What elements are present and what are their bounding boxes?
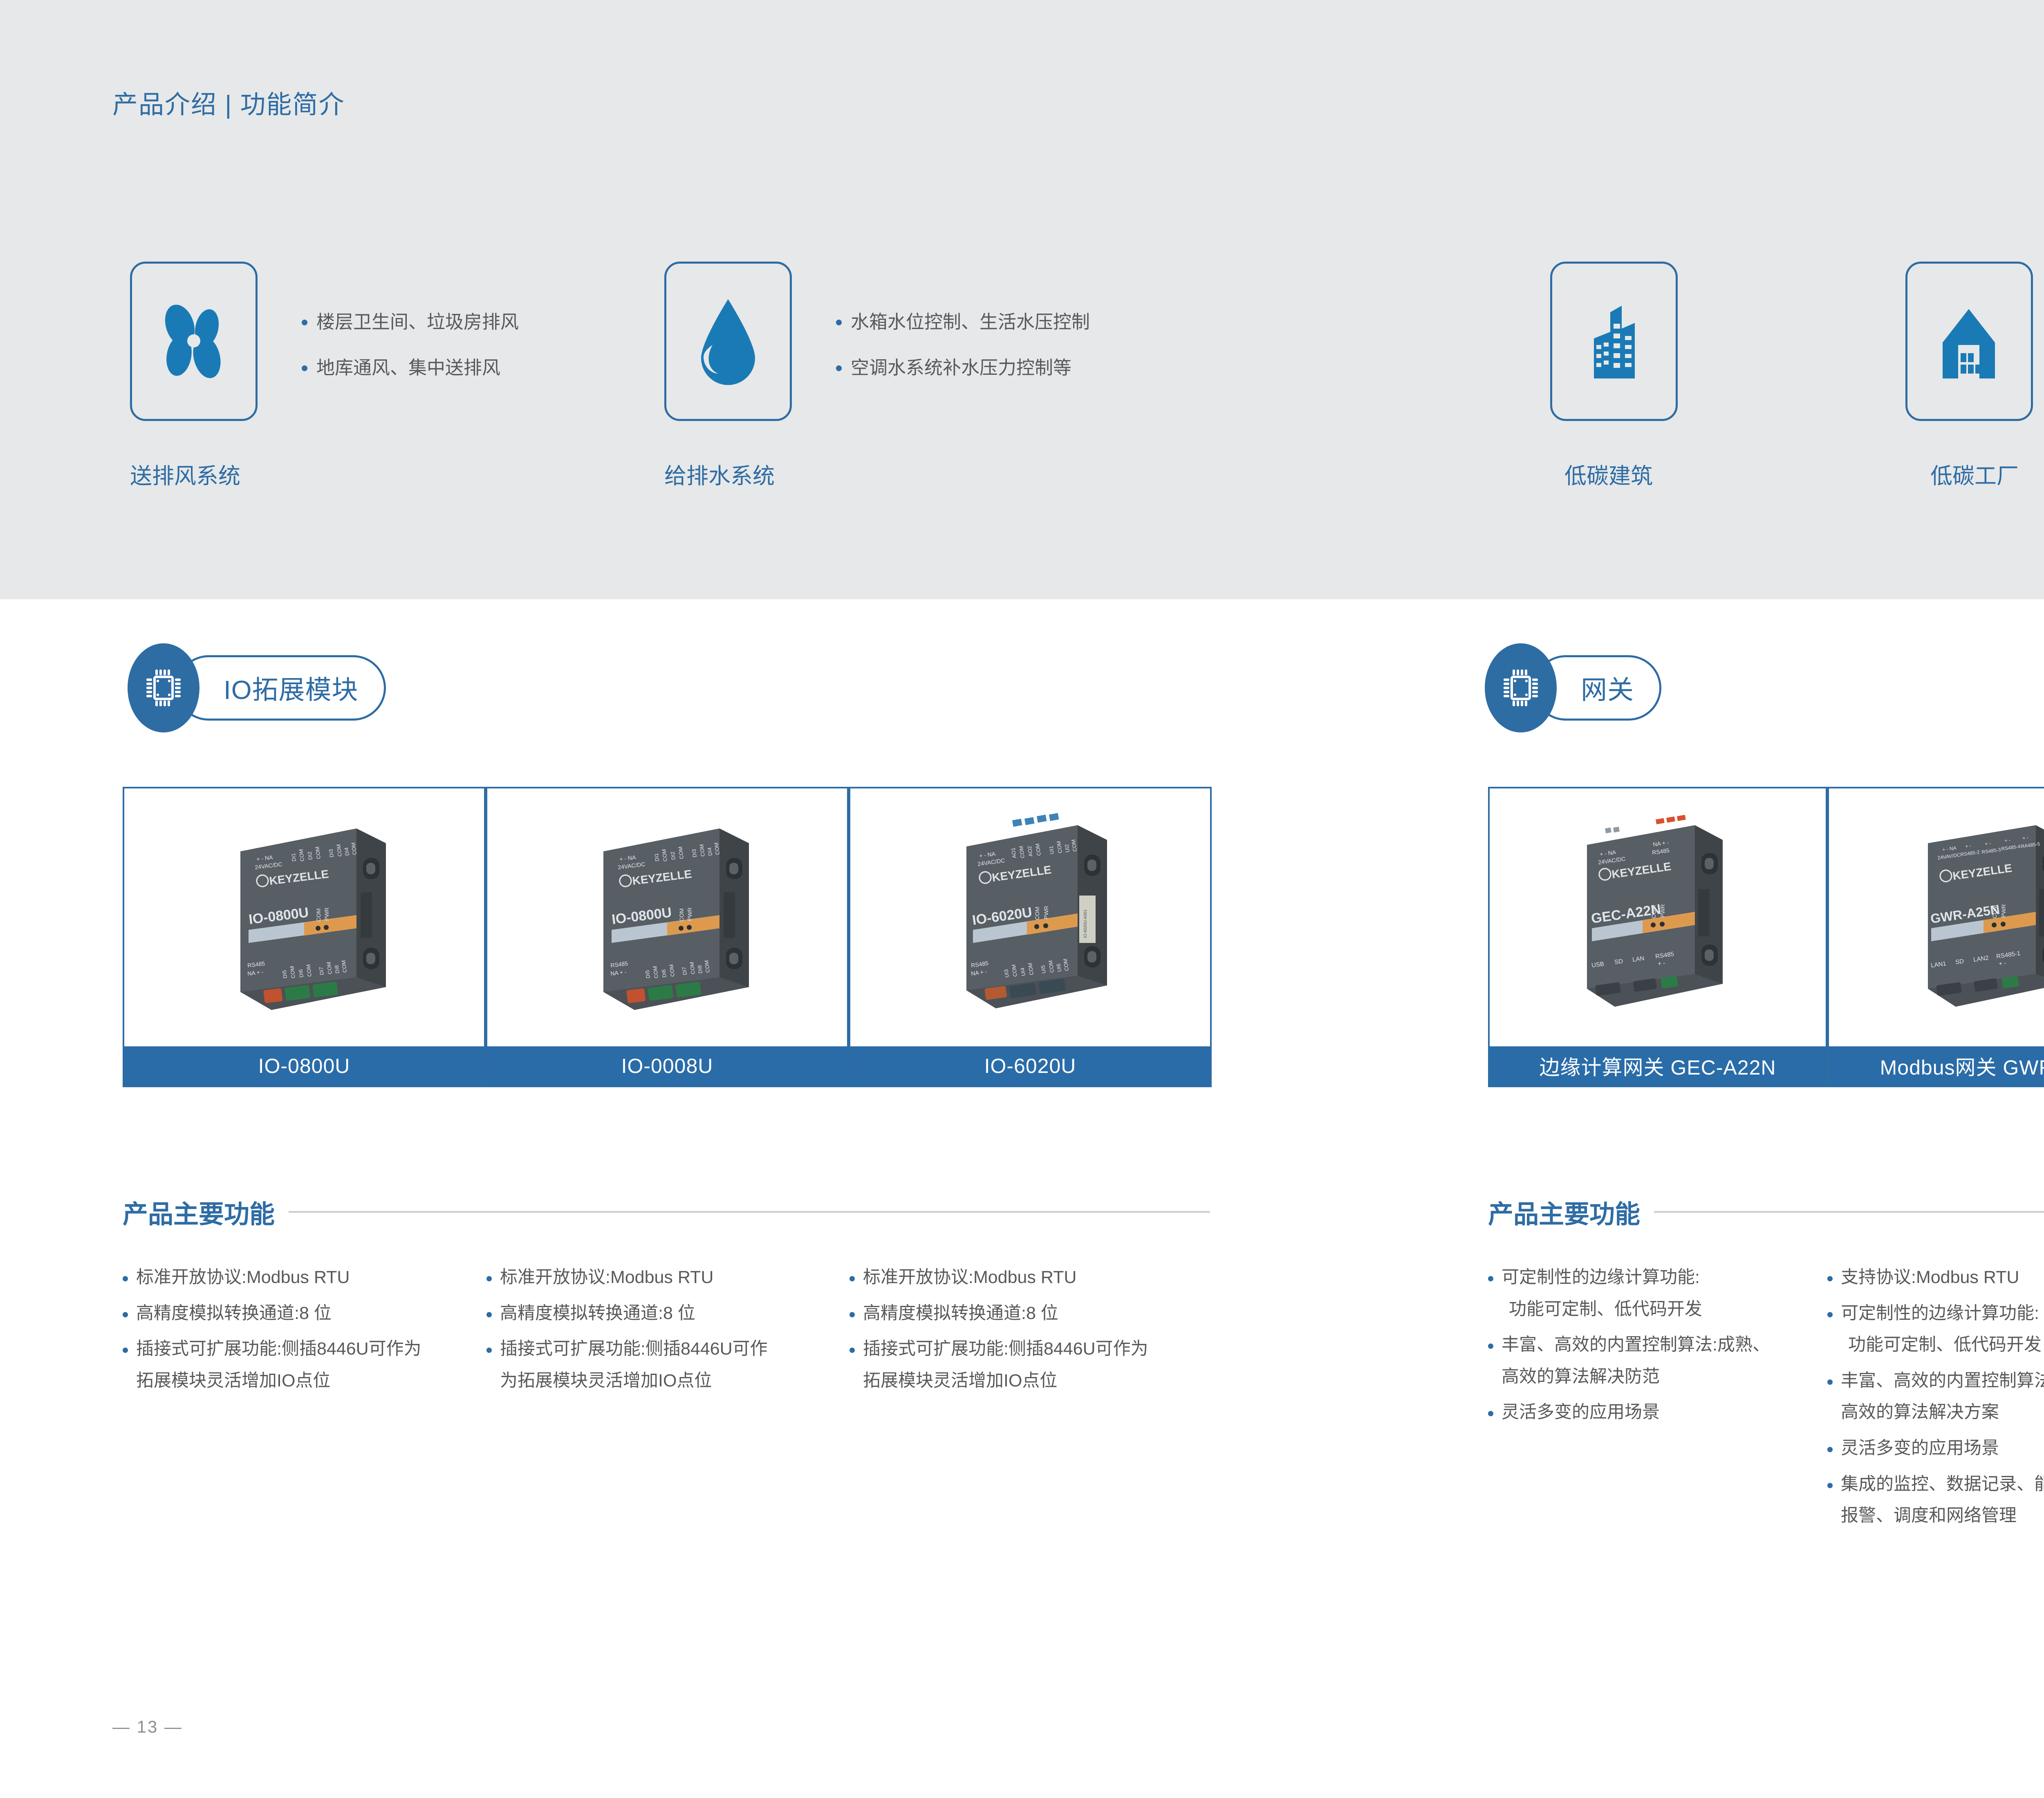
svg-text:PWR: PWR: [1659, 904, 1666, 918]
svg-text:DI2: DI2: [307, 851, 314, 860]
feature-item: 丰富、高效的内置控制算法:成熟、高效的算法解决防范: [1488, 1335, 1827, 1387]
svg-text:DI1: DI1: [653, 853, 660, 862]
bullet-dot-icon: [486, 1348, 492, 1353]
bullet-dot-icon: [123, 1348, 128, 1353]
svg-text:DI7: DI7: [318, 966, 325, 975]
feature-item: 插接式可扩展功能:侧插8446U可作为拓展模块灵活增加IO点位: [123, 1339, 482, 1391]
heading-rule: [289, 1211, 1210, 1213]
svg-text:UI1: UI1: [1048, 845, 1055, 854]
feature-item: 插接式可扩展功能:侧插8446U可作为拓展模块灵活增加IO点位: [849, 1339, 1209, 1391]
bullet-dot-icon: [836, 365, 842, 371]
svg-text:COM: COM: [1034, 907, 1040, 920]
svg-text:+ -: + -: [1998, 959, 2006, 967]
target-tile-factory: [1905, 262, 2033, 421]
product-image: GEC-A22N + - NA 24VAC/DC NA + - RS485 CO…: [1490, 788, 1826, 1046]
feature-item: 支持协议:Modbus RTU: [1827, 1267, 2044, 1288]
svg-text:DI4: DI4: [343, 847, 350, 856]
product-strip-label: IO-6020U: [850, 1046, 1210, 1086]
chip-icon: [128, 643, 199, 732]
svg-text:PWR: PWR: [2000, 904, 2007, 918]
target-label-building: 低碳建筑: [1564, 458, 1653, 490]
target-label-factory: 低碳工厂: [1930, 458, 2019, 490]
bullet-dot-icon: [486, 1312, 492, 1317]
section-badge-io: IO拓展模块: [128, 641, 386, 735]
bullet-dot-icon: [1827, 1483, 1833, 1488]
svg-text:+ -: + -: [1657, 959, 1665, 967]
office-building-icon: [1576, 299, 1652, 383]
bullet-dot-icon: [1488, 1343, 1493, 1349]
product-image: IO-0800U + - NA 24VAC/DC DI1 COM DI2 COM…: [124, 788, 484, 1046]
svg-text:DI3: DI3: [328, 849, 335, 858]
svg-text:+ -: + -: [2022, 835, 2028, 841]
scenario-label-water: 给排水系统: [664, 458, 775, 490]
bullet-dot-icon: [1488, 1411, 1493, 1416]
svg-text:+ -: + -: [1965, 843, 1971, 849]
bullet-dot-icon: [486, 1276, 492, 1281]
svg-text:DI4: DI4: [706, 847, 713, 856]
list-item: 空调水系统补水压力控制等: [836, 356, 1090, 379]
feature-column: 标准开放协议:Modbus RTU 高精度模拟转换通道:8 位 插接式可扩展功能…: [486, 1267, 846, 1391]
product-strip-label: 边缘计算网关 GEC-A22N: [1490, 1046, 1826, 1086]
bullet-dot-icon: [302, 365, 307, 371]
heading-rule: [1654, 1211, 2044, 1213]
feature-item: 丰富、高效的内置控制算法:成熟、高效的算法解决方案: [1827, 1370, 2044, 1423]
product-card[interactable]: GWR-A25N + - NA + - + - + - + - 2AVAV/DC…: [1827, 787, 2044, 1087]
features-title-text: 产品主要功能: [1488, 1193, 1640, 1230]
svg-text:DI5: DI5: [644, 970, 651, 978]
bullet-dot-icon: [123, 1312, 128, 1317]
water-drop-icon: [691, 294, 765, 388]
bullet-dot-icon: [1827, 1447, 1833, 1452]
svg-text:PWR: PWR: [323, 907, 330, 921]
feature-item: 高精度模拟转换通道:8 位: [486, 1303, 846, 1324]
product-image: IO-6020U-A001 IO-6020U + - NA 24VAC/DC A…: [850, 788, 1210, 1046]
product-image: IO-0800U + - NA 24VAC/DC DI1 COM DI2 COM…: [487, 788, 847, 1046]
svg-text:DI3: DI3: [691, 849, 698, 858]
product-card[interactable]: GEC-A22N + - NA 24VAC/DC NA + - RS485 CO…: [1488, 787, 1827, 1087]
svg-text:COM: COM: [1650, 905, 1657, 918]
features-title-text: 产品主要功能: [123, 1193, 275, 1230]
feature-column: 可定制性的边缘计算功能:功能可定制、低代码开发 丰富、高效的内置控制算法:成熟、…: [1488, 1267, 1827, 1423]
bullet-dot-icon: [1488, 1276, 1493, 1281]
svg-text:UI5: UI5: [1040, 965, 1047, 974]
svg-text:PWR: PWR: [1043, 906, 1049, 919]
product-strip-label: IO-0008U: [487, 1046, 847, 1086]
svg-text:DI8: DI8: [334, 965, 341, 974]
svg-text:DI1: DI1: [290, 853, 297, 862]
bullet-dot-icon: [1827, 1276, 1833, 1281]
page-header-left: 产品介绍 | 功能简介: [112, 84, 345, 121]
feature-item: 标准开放协议:Modbus RTU: [486, 1267, 846, 1288]
bullet-dot-icon: [302, 320, 307, 325]
svg-text:DI6: DI6: [661, 969, 668, 978]
bullet-dot-icon: [849, 1276, 855, 1281]
svg-text:COM: COM: [1991, 905, 1998, 918]
svg-text:DI2: DI2: [670, 851, 677, 860]
list-item: 楼层卫生间、垃圾房排风: [302, 311, 519, 334]
scenario-label-fan: 送排风系统: [130, 458, 240, 490]
product-card[interactable]: IO-0800U + - NA 24VAC/DC DI1 COM DI2 COM…: [486, 787, 849, 1087]
scenario-tile-fan: [130, 262, 258, 421]
factory-icon: [1931, 299, 2007, 383]
feature-item: 灵活多变的应用场景: [1488, 1402, 1827, 1423]
svg-text:UI2: UI2: [1063, 844, 1071, 853]
feature-item: 可定制性的边缘计算功能:功能可定制、低代码开发: [1827, 1303, 2044, 1356]
bullet-dot-icon: [123, 1276, 128, 1281]
svg-text:+ -: + -: [1984, 840, 1991, 847]
svg-text:COM: COM: [678, 908, 685, 922]
brochure-page: 产品介绍 | 功能简介 产品介绍 | 功能简介 送排风系统 楼层卫生间、垃圾房排…: [0, 0, 2044, 1798]
feature-column: 标准开放协议:Modbus RTU 高精度模拟转换通道:8 位 插接式可扩展功能…: [849, 1267, 1209, 1391]
scenario-tile-water: [664, 262, 792, 421]
section-badge-pill-io: IO拓展模块: [176, 655, 386, 721]
scenario-bullets-water: 水箱水位控制、生活水压控制 空调水系统补水压力控制等: [836, 311, 1090, 380]
page-number-left: — 13 —: [112, 1717, 183, 1737]
bullet-dot-icon: [849, 1312, 855, 1317]
features-heading-gateway: 产品主要功能: [1488, 1193, 2044, 1230]
section-badge-label-io: IO拓展模块: [224, 669, 359, 707]
svg-text:SD: SD: [1614, 958, 1623, 966]
svg-text:COM: COM: [315, 908, 322, 922]
product-image: GWR-A25N + - NA + - + - + - + - 2AVAV/DC…: [1829, 788, 2044, 1046]
list-item: 地库通风、集中送排风: [302, 356, 519, 379]
product-strip-label: Modbus网关 GWR-A25N: [1829, 1046, 2044, 1086]
feature-item: 标准开放协议:Modbus RTU: [123, 1267, 482, 1288]
feature-item: 可定制性的边缘计算功能:功能可定制、低代码开发: [1488, 1267, 1827, 1320]
svg-text:UI4: UI4: [1019, 967, 1026, 976]
section-badge-gateway: 网关: [1485, 641, 1661, 735]
svg-text:UI3: UI3: [1003, 969, 1010, 978]
feature-item: 灵活多变的应用场景: [1827, 1438, 2044, 1459]
svg-text:DI7: DI7: [681, 966, 688, 975]
svg-text:SD: SD: [1955, 958, 1964, 966]
bullet-dot-icon: [836, 320, 842, 325]
svg-text:+ -: + -: [2004, 837, 2010, 844]
product-card[interactable]: IO-6020U-A001 IO-6020U + - NA 24VAC/DC A…: [849, 787, 1212, 1087]
bullet-dot-icon: [849, 1348, 855, 1353]
feature-column: 支持协议:Modbus RTU 可定制性的边缘计算功能:功能可定制、低代码开发 …: [1827, 1267, 2044, 1527]
features-heading-io: 产品主要功能: [123, 1193, 1210, 1230]
target-tile-building: [1550, 262, 1678, 421]
feature-item: 插接式可扩展功能:侧插8446U可作为拓展模块灵活增加IO点位: [486, 1339, 846, 1391]
feature-item: 标准开放协议:Modbus RTU: [849, 1267, 1209, 1288]
svg-text:PWR: PWR: [686, 907, 693, 921]
feature-item: 集成的监控、数据记录、能耗计量、报警、调度和网络管理: [1827, 1474, 2044, 1527]
fan-icon: [153, 298, 235, 384]
product-strip-label: IO-0800U: [124, 1046, 484, 1086]
chip-icon: [1485, 643, 1557, 732]
section-badge-label-gateway: 网关: [1581, 669, 1634, 707]
feature-item: 高精度模拟转换通道:8 位: [123, 1303, 482, 1324]
svg-text:DI5: DI5: [281, 970, 288, 978]
svg-text:UI6: UI6: [1055, 963, 1062, 972]
svg-text:DI8: DI8: [697, 965, 704, 974]
bullet-dot-icon: [1827, 1312, 1833, 1317]
feature-column: 标准开放协议:Modbus RTU 高精度模拟转换通道:8 位 插接式可扩展功能…: [123, 1267, 482, 1391]
scenario-bullets-fan: 楼层卫生间、垃圾房排风 地库通风、集中送排风: [302, 311, 519, 380]
svg-text:DI6: DI6: [298, 969, 305, 978]
product-card[interactable]: IO-0800U + - NA 24VAC/DC DI1 COM DI2 COM…: [123, 787, 486, 1087]
bullet-dot-icon: [1827, 1379, 1833, 1385]
list-item: 水箱水位控制、生活水压控制: [836, 311, 1090, 334]
svg-text:IO-6020U-A001: IO-6020U-A001: [1083, 909, 1088, 938]
feature-item: 高精度模拟转换通道:8 位: [849, 1303, 1209, 1324]
